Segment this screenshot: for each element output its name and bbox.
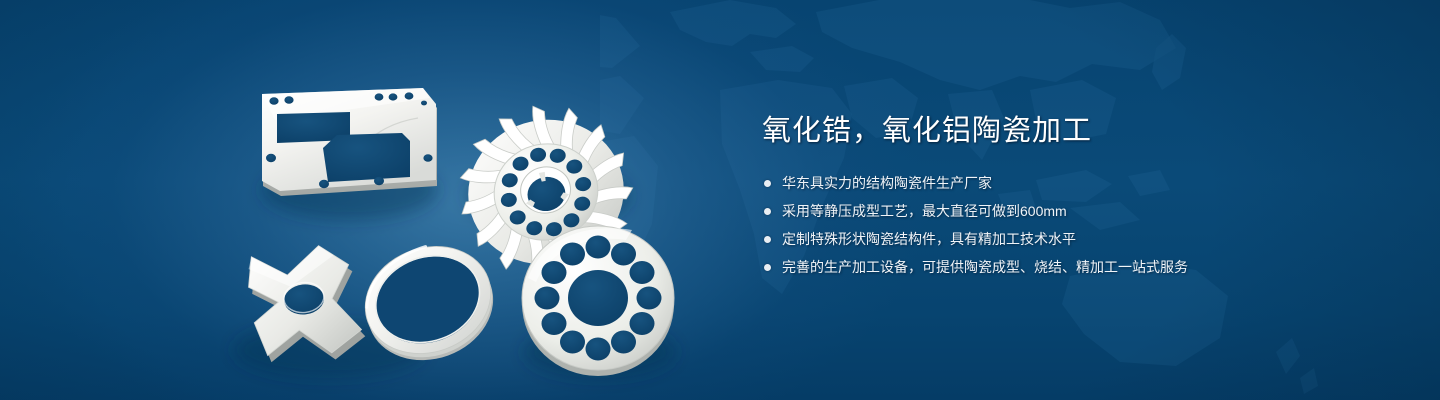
page-title: 氧化锆，氧化铝陶瓷加工 [762,112,1382,150]
feature-list: 华东具实力的结构陶瓷件生产厂家 采用等静压成型工艺，最大直径可做到600mm 定… [764,174,1382,277]
list-item-label: 采用等静压成型工艺，最大直径可做到600mm [782,202,1067,221]
ceramic-hole-disc-part [522,226,674,376]
ceramic-products-image [0,0,740,400]
list-item: 华东具实力的结构陶瓷件生产厂家 [764,174,1382,193]
list-item: 采用等静压成型工艺，最大直径可做到600mm [764,202,1382,221]
banner-copy: 氧化锆，氧化铝陶瓷加工 华东具实力的结构陶瓷件生产厂家 采用等静压成型工艺，最大… [762,112,1382,277]
bullet-dot-icon [764,180,771,187]
list-item: 完善的生产加工设备，可提供陶瓷成型、烧结、精加工一站式服务 [764,258,1382,277]
list-item: 定制特殊形状陶瓷结构件，具有精加工技术水平 [764,230,1382,249]
bullet-dot-icon [764,264,771,271]
bullet-dot-icon [764,236,771,243]
ceramic-plate-part [262,88,437,196]
list-item-label: 完善的生产加工设备，可提供陶瓷成型、烧结、精加工一站式服务 [782,258,1188,277]
hero-banner: 氧化锆，氧化铝陶瓷加工 华东具实力的结构陶瓷件生产厂家 采用等静压成型工艺，最大… [0,0,1440,400]
list-item-label: 华东具实力的结构陶瓷件生产厂家 [782,174,992,193]
bullet-dot-icon [764,208,771,215]
list-item-label: 定制特殊形状陶瓷结构件，具有精加工技术水平 [782,230,1076,249]
